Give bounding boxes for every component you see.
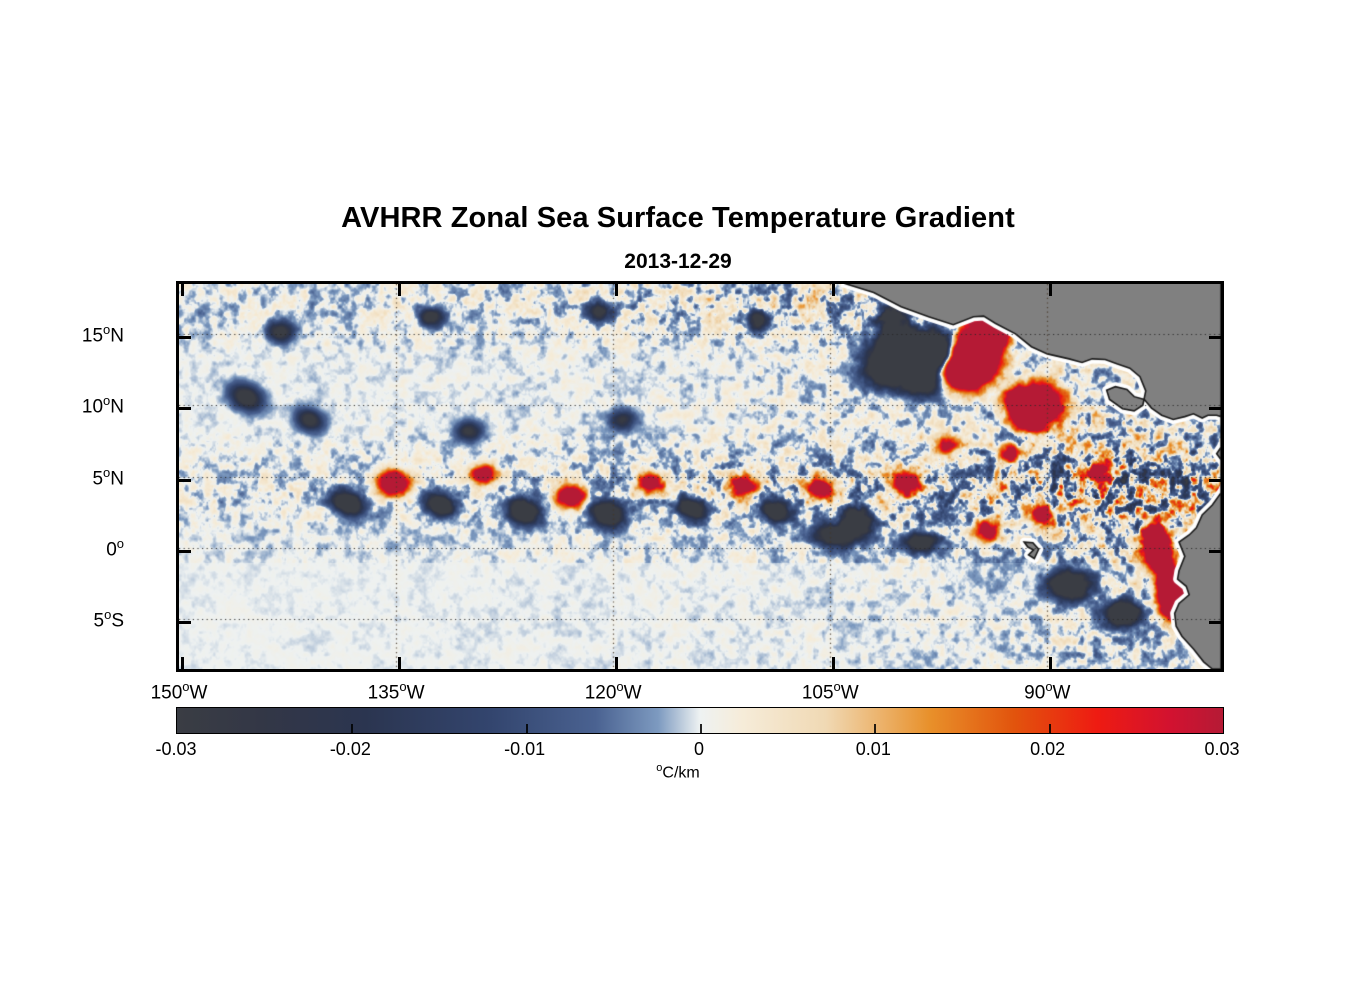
x-axis-tick-mark: [181, 657, 184, 669]
x-axis-tick-label: 135oW: [316, 679, 476, 704]
colorbar-tick-label: 0.03: [1147, 739, 1297, 760]
colorbar: [176, 707, 1224, 734]
x-axis-tick-label: 105oW: [750, 679, 910, 704]
y-axis-tick-mark: [1209, 479, 1221, 482]
chart-subtitle: 2013-12-29: [0, 250, 1356, 274]
y-axis-tick-mark: [179, 479, 191, 482]
x-axis-tick-label: 150oW: [99, 679, 259, 704]
x-axis-tick-mark: [832, 657, 835, 669]
x-axis-tick-mark: [1049, 284, 1052, 296]
y-axis-tick-label: 15oN: [4, 322, 124, 347]
y-axis-tick-label: 5oN: [4, 465, 124, 490]
colorbar-tick-label: -0.01: [450, 739, 600, 760]
chart-title: AVHRR Zonal Sea Surface Temperature Grad…: [0, 202, 1356, 235]
x-axis-tick-mark: [832, 284, 835, 296]
y-axis-tick-mark: [179, 621, 191, 624]
colorbar-tick-mark: [526, 724, 528, 733]
y-axis-tick-mark: [179, 407, 191, 410]
x-axis-tick-mark: [615, 284, 618, 296]
colorbar-units-label: oC/km: [0, 762, 1356, 782]
colorbar-tick-mark: [700, 724, 702, 733]
map-axes: [176, 281, 1224, 672]
x-axis-tick-mark: [181, 284, 184, 296]
y-axis-tick-label: 5oS: [4, 607, 124, 632]
y-axis-tick-mark: [179, 550, 191, 553]
colorbar-tick-mark: [351, 724, 353, 733]
y-axis-tick-label: 10oN: [4, 393, 124, 418]
sst-gradient-heatmap: [179, 284, 1221, 669]
y-axis-tick-mark: [1209, 550, 1221, 553]
colorbar-tick-label: 0: [624, 739, 774, 760]
x-axis-tick-mark: [1049, 657, 1052, 669]
figure-root: AVHRR Zonal Sea Surface Temperature Grad…: [0, 0, 1356, 1000]
colorbar-tick-label: -0.02: [275, 739, 425, 760]
colorbar-tick-mark: [1049, 724, 1051, 733]
x-axis-tick-mark: [615, 657, 618, 669]
y-axis-tick-label: 0o: [4, 536, 124, 561]
x-axis-tick-mark: [398, 657, 401, 669]
colorbar-tick-label: 0.02: [973, 739, 1123, 760]
x-axis-tick-mark: [398, 284, 401, 296]
colorbar-tick-label: 0.01: [798, 739, 948, 760]
x-axis-tick-label: 120oW: [533, 679, 693, 704]
y-axis-tick-mark: [1209, 621, 1221, 624]
colorbar-tick-label: -0.03: [101, 739, 251, 760]
y-axis-tick-mark: [1209, 407, 1221, 410]
y-axis-tick-mark: [1209, 336, 1221, 339]
y-axis-tick-mark: [179, 336, 191, 339]
colorbar-tick-mark: [874, 724, 876, 733]
x-axis-tick-label: 90oW: [967, 679, 1127, 704]
